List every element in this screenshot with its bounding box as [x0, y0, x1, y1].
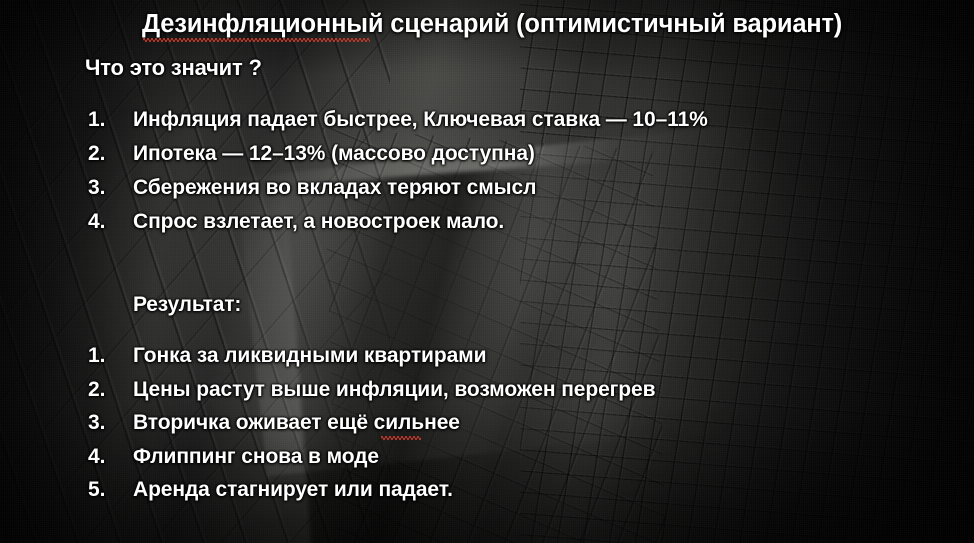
list-item: 1. Инфляция падает быстрее, Ключевая ста… [88, 108, 708, 142]
list-item-number: 3. [88, 411, 133, 435]
spellcheck-squiggle-title [143, 38, 370, 42]
question-heading: Что это значит ? [85, 56, 262, 80]
list-item-text: Сбережения во вкладах теряют смысл [133, 176, 536, 200]
list-item-text: Вторичка оживает ещё сильнее [133, 411, 460, 435]
result-heading: Результат: [133, 293, 241, 316]
list-item-text: Цены растут выше инфляции, возможен пере… [133, 378, 655, 402]
list-item-text: Аренда стагнирует или падает. [133, 478, 453, 502]
list-item-text: Гонка за ликвидными квартирами [133, 344, 486, 368]
list-item-number: 1. [88, 344, 133, 368]
presentation-slide: Дезинфляционный сценарий (оптимистичный … [0, 0, 974, 543]
list-item-number: 3. [88, 176, 133, 200]
list-item-number: 4. [88, 445, 133, 469]
slide-title: Дезинфляционный сценарий (оптимистичный … [142, 10, 842, 38]
list-item: 3. Сбережения во вкладах теряют смысл [88, 176, 708, 210]
list-item-number: 2. [88, 378, 133, 402]
list-item: 3. Вторичка оживает ещё сильнее [88, 411, 655, 445]
list-item-text: Флиппинг снова в моде [133, 445, 379, 469]
list-item: 1. Гонка за ликвидными квартирами [88, 344, 655, 378]
list-item: 4. Спрос взлетает, а новостроек мало. [88, 210, 708, 244]
meaning-list: 1. Инфляция падает быстрее, Ключевая ста… [88, 108, 708, 244]
list-item-text: Инфляция падает быстрее, Ключевая ставка… [133, 108, 708, 132]
list-item: 4. Флиппинг снова в моде [88, 445, 655, 479]
list-item-number: 4. [88, 210, 133, 234]
list-item-number: 5. [88, 478, 133, 502]
list-item-text: Спрос взлетает, а новостроек мало. [133, 210, 504, 234]
list-item: 5. Аренда стагнирует или падает. [88, 478, 655, 512]
list-item-number: 2. [88, 142, 133, 166]
list-item: 2. Цены растут выше инфляции, возможен п… [88, 378, 655, 412]
slide-content: Дезинфляционный сценарий (оптимистичный … [0, 0, 974, 543]
list-item: 2. Ипотека — 12–13% (массово доступна) [88, 142, 708, 176]
result-list: 1. Гонка за ликвидными квартирами 2. Цен… [88, 344, 655, 512]
list-item-text: Ипотека — 12–13% (массово доступна) [133, 142, 535, 166]
list-item-number: 1. [88, 108, 133, 132]
